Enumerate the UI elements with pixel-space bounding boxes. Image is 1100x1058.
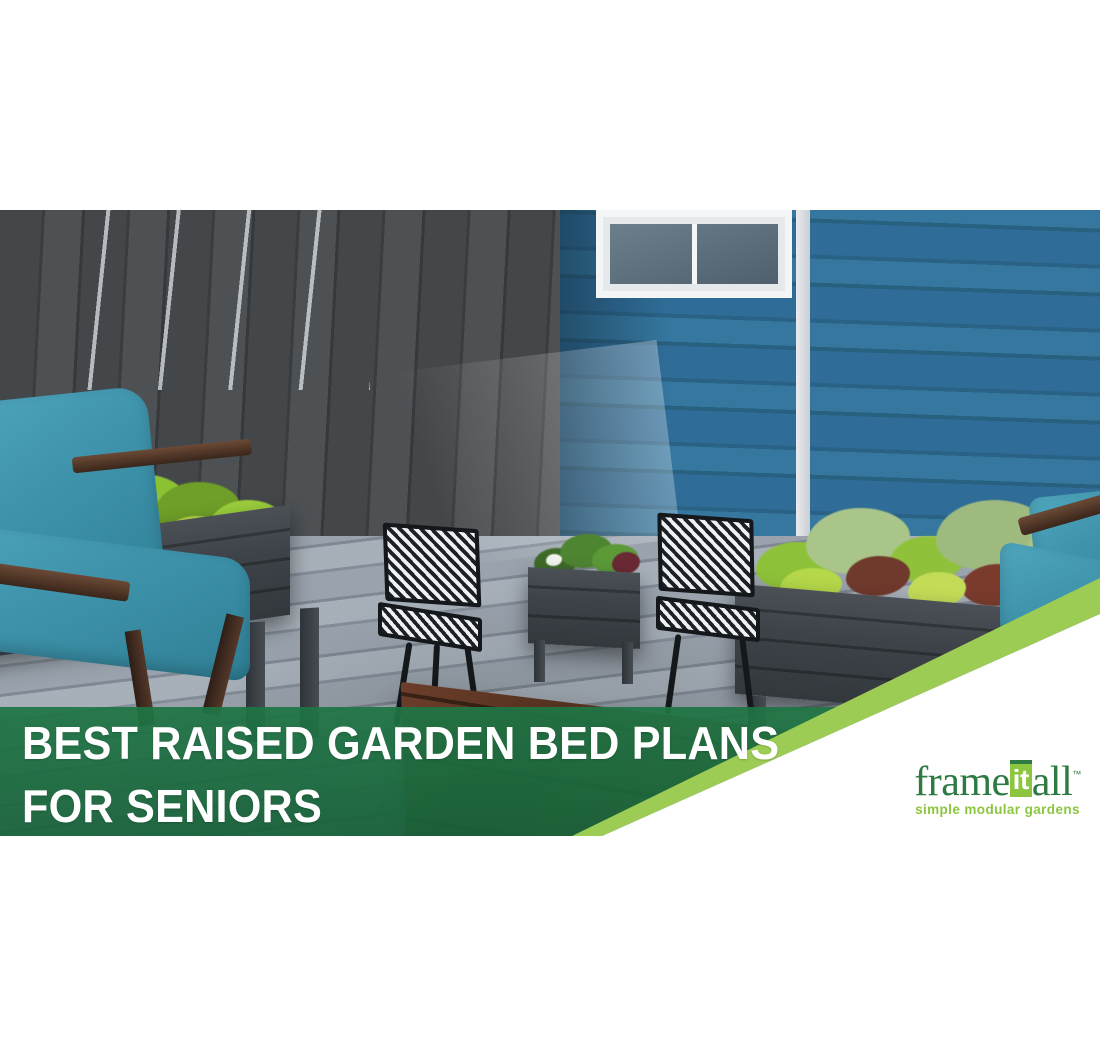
page-root: BEST RAISED GARDEN BED PLANS FOR SENIORS… <box>0 0 1100 1058</box>
brand-logo[interactable]: frameitall™ simple modular gardens <box>905 752 1090 817</box>
house-window <box>596 210 792 298</box>
planter-middle-leg-a <box>534 640 545 682</box>
fence-highlight <box>40 210 370 390</box>
planter-box-middle <box>528 567 640 649</box>
page-title: BEST RAISED GARDEN BED PLANS FOR SENIORS <box>22 712 802 838</box>
logo-it-badge: it <box>1010 760 1032 797</box>
chair-back <box>657 513 754 598</box>
logo-trademark-icon: ™ <box>1072 769 1081 779</box>
window-mullion <box>692 224 697 284</box>
logo-word-all: all <box>1032 759 1072 805</box>
corner-trim <box>796 210 810 540</box>
logo-word-frame: frame <box>914 759 1009 805</box>
logo-wordmark: frameitall™ <box>914 752 1081 804</box>
chair-back <box>383 523 482 608</box>
planter-middle-leg-b <box>622 642 633 684</box>
